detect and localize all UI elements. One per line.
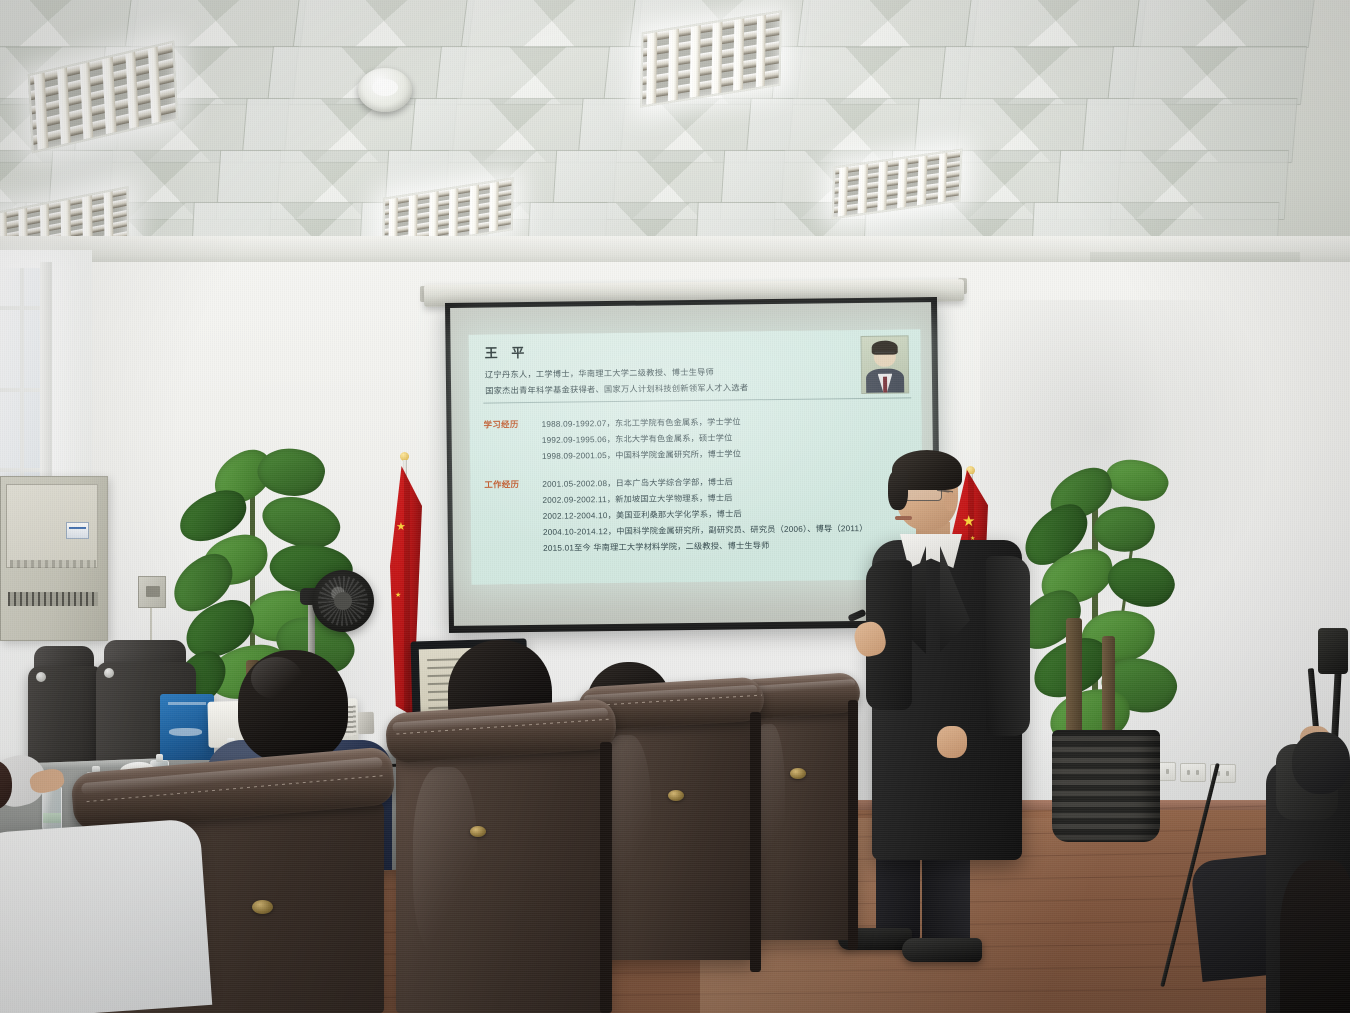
work-entry-3: 2002.12-2004.10，美国亚利桑那大学化学系，博士后 xyxy=(543,507,742,521)
presenter-mouth xyxy=(895,516,912,520)
seat-gap-1 xyxy=(600,742,612,1013)
water-bottle-2[interactable] xyxy=(42,786,62,832)
smoke-detector xyxy=(358,68,412,112)
ceiling-tile xyxy=(461,0,644,48)
window-frame xyxy=(40,262,52,502)
work-entry-4: 2004.10-2014.12，中国科学院金属研究所，副研究员、研究员（2006… xyxy=(543,522,868,538)
ceiling-tile xyxy=(965,0,1148,48)
study-entry-2: 1992.09-1995.06，东北大学有色金属系，硕士学位 xyxy=(542,432,733,446)
portrait-glasses-icon xyxy=(875,351,895,357)
portrait-tie xyxy=(883,377,887,393)
ceiling-tile xyxy=(797,0,980,48)
ac-control-strip xyxy=(10,560,96,568)
slide-subtitle-line-2: 国家杰出青年科学基金获得者、国家万人计划科技创新领军人才入选者 xyxy=(485,381,748,396)
work-entry-2: 2002.09-2002.11，新加坡国立大学物理系，博士后 xyxy=(542,492,732,506)
tripod-head xyxy=(1318,628,1348,674)
presenter-hair-side xyxy=(888,470,908,510)
blue-bag[interactable] xyxy=(160,694,214,760)
fan-hub xyxy=(334,592,352,610)
work-entry-1: 2001.05-2002.08，日本广岛大学综合学部，博士后 xyxy=(542,476,733,490)
seat-gap-3 xyxy=(848,700,858,950)
ceiling-tile xyxy=(1107,46,1307,105)
slide-divider xyxy=(483,397,911,403)
slide-section-label-study: 学习经历 xyxy=(484,418,519,430)
presenter-hand-right xyxy=(937,726,967,758)
ceiling-tile xyxy=(125,0,308,48)
projected-slide: 王 平 辽宁丹东人，工学博士，华南理工大学二级教授、博士生导师 国家杰出青年科学… xyxy=(468,329,923,585)
audience-member-1-head xyxy=(238,650,348,762)
work-entry-5: 2015.01至今 华南理工大学材料学院，二级教授、博士生导师 xyxy=(543,539,770,554)
slide-portrait-photo xyxy=(861,335,910,394)
study-entry-3: 1998.09-2001.05，中国科学院金属研究所，博士学位 xyxy=(542,447,741,461)
ac-vent-grille xyxy=(8,592,98,606)
foreground-person-right-hair xyxy=(1280,860,1350,1013)
ceiling-tile xyxy=(0,0,139,48)
projector-lens xyxy=(358,712,375,734)
study-entry-1: 1988.09-1992.07，东北工学院有色金属系，学士学位 xyxy=(542,415,741,429)
ceiling-tile xyxy=(1133,0,1316,48)
slide-speaker-name: 王 平 xyxy=(485,342,530,362)
foreground-person-right-head xyxy=(1292,732,1350,794)
conference-room-photo: 王 平 辽宁丹东人，工学博士，华南理工大学二级教授、博士生导师 国家杰出青年科学… xyxy=(0,0,1350,1013)
presenter-ear xyxy=(944,492,957,511)
ceiling xyxy=(0,0,1350,252)
ceiling-tile xyxy=(293,0,476,48)
foreground-person-left xyxy=(0,818,212,1013)
seat-gap-2 xyxy=(750,712,761,972)
ac-energy-label xyxy=(66,522,89,539)
slide-subtitle-line-1: 辽宁丹东人，工学博士，华南理工大学二级教授、博士生导师 xyxy=(485,366,714,381)
presenter-arm-right xyxy=(986,556,1030,736)
window-mullion-vertical xyxy=(20,268,24,496)
presenter-shoe-right xyxy=(902,938,982,962)
slide-section-label-work: 工作经历 xyxy=(484,478,519,490)
